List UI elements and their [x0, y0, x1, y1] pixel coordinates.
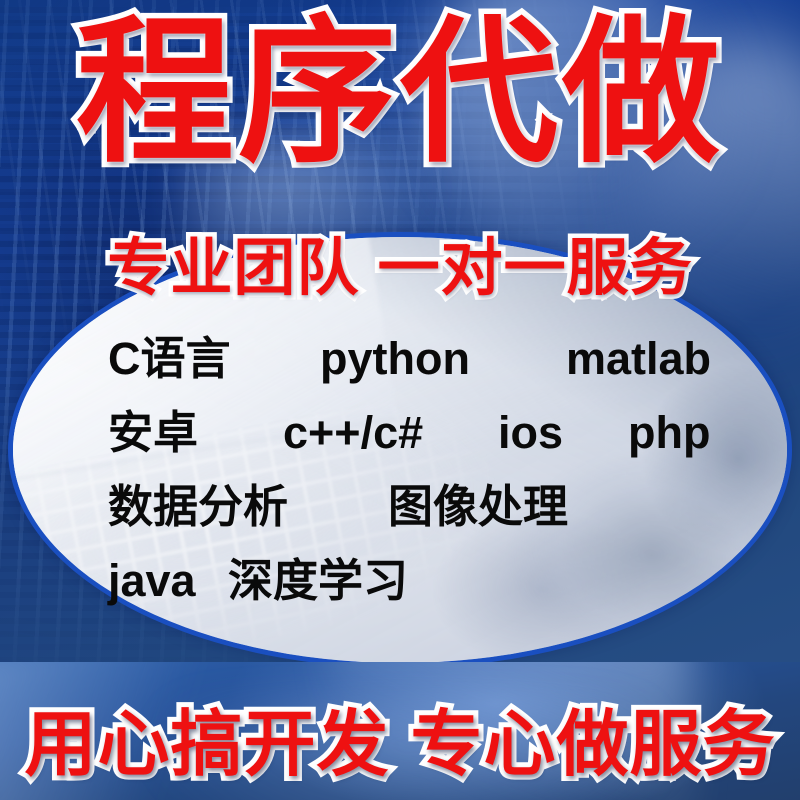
service-list: C语言 python matlab 安卓 c++/c# ios php 数据分析…	[108, 322, 768, 618]
service-item-ios: ios	[498, 407, 628, 459]
service-row: java 深度学习	[108, 544, 768, 618]
service-item-java: java	[108, 555, 228, 607]
poster-footer-slogan: 用心搞开发 专心做服务	[0, 702, 800, 788]
service-item-c: C语言	[108, 322, 320, 387]
service-item-php: php	[628, 407, 710, 459]
service-item-image-processing: 图像处理	[388, 470, 568, 535]
promo-poster: 程序代做 专业团队 一对一服务 C语言 python matlab 安卓 c++…	[0, 0, 800, 800]
service-row: 安卓 c++/c# ios php	[108, 396, 768, 470]
service-item-data-analysis: 数据分析	[108, 470, 388, 535]
service-row: 数据分析 图像处理	[108, 470, 768, 544]
service-item-deep-learning: 深度学习	[228, 544, 408, 609]
service-item-python: python	[320, 333, 566, 385]
service-item-android: 安卓	[108, 396, 283, 461]
service-item-matlab: matlab	[566, 333, 711, 385]
service-row: C语言 python matlab	[108, 322, 768, 396]
poster-subtitle: 专业团队 一对一服务	[0, 232, 800, 306]
poster-title: 程序代做	[0, 2, 800, 184]
service-item-cpp-csharp: c++/c#	[283, 407, 498, 459]
